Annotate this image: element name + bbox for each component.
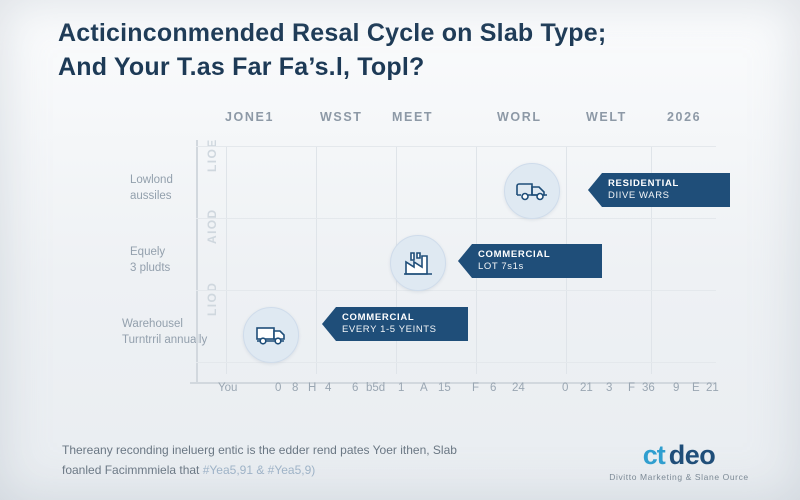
logo-subtitle: Divitto Marketing & Slane Ource bbox=[594, 472, 764, 482]
axis-tick: 4 bbox=[325, 382, 331, 394]
callout-commercial-every-text: COMMERCIAL EVERY 1-5 YEINTS bbox=[342, 312, 437, 336]
gridline-horizontal bbox=[196, 290, 716, 291]
gridline-vertical bbox=[316, 146, 317, 374]
axis-tick: 36 bbox=[642, 382, 655, 394]
axis-tick: A bbox=[420, 382, 428, 394]
gridline-vertical bbox=[226, 146, 227, 374]
axis-tick: 21 bbox=[580, 382, 593, 394]
footer-line-1-b: Yoer ithen, Slab bbox=[373, 443, 457, 457]
column-header-4: WELT bbox=[586, 110, 627, 124]
axis-tick: H bbox=[308, 382, 316, 394]
footer-line-2-b: #Yea5,91 & #Yea5,9) bbox=[203, 463, 316, 477]
footer-line-2-a: foanled Facimmmiela that bbox=[62, 463, 203, 477]
axis-tick: 3 bbox=[606, 382, 612, 394]
axis-tick: 24 bbox=[512, 382, 525, 394]
title-line-2: And Your T.as Far Fa’s.l, Topl? bbox=[58, 50, 718, 84]
footer-line-2: foanled Facimmmiela that #Yea5,91 & #Yea… bbox=[62, 460, 582, 480]
axis-tick: 6 bbox=[352, 382, 358, 394]
column-header-5: 2026 bbox=[667, 110, 701, 124]
callout-commercial-lot-text: COMMERCIAL LOT 7s1s bbox=[478, 249, 550, 273]
logo[interactable]: ct deo Divitto Marketing & Slane Ource bbox=[594, 440, 764, 482]
axis-tick: 15 bbox=[438, 382, 451, 394]
axis-tick: F bbox=[628, 382, 635, 394]
axis-tick: 8 bbox=[292, 382, 298, 394]
axis-left bbox=[196, 140, 198, 384]
callout-residential-text: RESIDENTIAL DIIVE WARS bbox=[608, 178, 679, 202]
slide-canvas: Acticinconmended Resal Cycle on Slab Typ… bbox=[0, 0, 800, 500]
axis-tick: 0 bbox=[275, 382, 281, 394]
axis-tick: b5d bbox=[366, 382, 385, 394]
axis-tick: You bbox=[218, 382, 237, 394]
gridline-horizontal bbox=[196, 218, 716, 219]
column-header-0: JONE1 bbox=[225, 110, 274, 124]
column-header-2: MEET bbox=[392, 110, 433, 124]
page-title: Acticinconmended Resal Cycle on Slab Typ… bbox=[58, 16, 718, 84]
callout-residential-line1: RESIDENTIAL bbox=[608, 178, 679, 189]
callout-commercial-lot-line2: LOT 7s1s bbox=[478, 261, 550, 273]
footer-line-1: Thereany reconding ineluerg entic is the… bbox=[62, 440, 582, 460]
column-header-3: WORL bbox=[497, 110, 542, 124]
axis-tick: F bbox=[472, 382, 479, 394]
factory-icon bbox=[390, 235, 446, 291]
callout-commercial-lot-line1: COMMERCIAL bbox=[478, 249, 550, 260]
callout-commercial-every[interactable]: COMMERCIAL EVERY 1-5 YEINTS bbox=[322, 307, 468, 341]
truck-icon bbox=[243, 307, 299, 363]
van-icon bbox=[504, 163, 560, 219]
callout-residential-line2: DIIVE WARS bbox=[608, 190, 679, 202]
title-line-1: Acticinconmended Resal Cycle on Slab Typ… bbox=[58, 16, 718, 50]
logo-row: ct deo bbox=[594, 440, 764, 471]
axis-tick: 0 bbox=[562, 382, 568, 394]
footer-note: Thereany reconding ineluerg entic is the… bbox=[62, 440, 582, 480]
axis-tick: 21 bbox=[706, 382, 719, 394]
gridline-horizontal bbox=[196, 146, 716, 147]
axis-tick: 1 bbox=[398, 382, 404, 394]
callout-commercial-lot[interactable]: COMMERCIAL LOT 7s1s bbox=[458, 244, 602, 278]
callout-residential[interactable]: RESIDENTIAL DIIVE WARS bbox=[588, 173, 730, 207]
column-header-1: WSST bbox=[320, 110, 363, 124]
logo-mark: ct bbox=[643, 440, 665, 471]
axis-tick: 6 bbox=[490, 382, 496, 394]
logo-wordmark: deo bbox=[669, 440, 716, 471]
callout-commercial-every-line1: COMMERCIAL bbox=[342, 312, 414, 323]
axis-tick: E bbox=[692, 382, 700, 394]
axis-bottom bbox=[190, 382, 716, 384]
footer-line-1-a: Thereany reconding ineluerg entic is the… bbox=[62, 443, 373, 457]
callout-commercial-every-line2: EVERY 1-5 YEINTS bbox=[342, 324, 437, 336]
axis-tick: 9 bbox=[673, 382, 679, 394]
